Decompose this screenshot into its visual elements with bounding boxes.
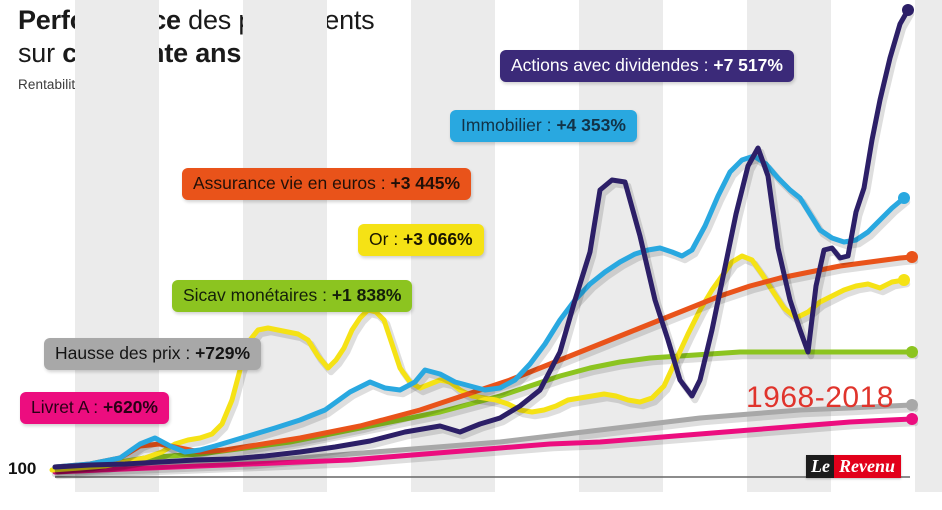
- legend-sep-hausse: :: [180, 343, 195, 363]
- legend-value-hausse: +729%: [195, 343, 250, 363]
- logo-part-le: Le: [806, 455, 834, 478]
- series-endpoint-3[interactable]: [898, 274, 910, 286]
- legend-label-immobilier: Immobilier: [461, 115, 542, 135]
- legend-sep-assurance-vie: :: [376, 173, 391, 193]
- legend-sep-or: :: [388, 229, 403, 249]
- chart-band-5: [915, 0, 942, 492]
- legend-pill-actions[interactable]: Actions avec dividendes : +7 517%: [500, 50, 794, 82]
- le-revenu-logo: Le Revenu: [806, 455, 901, 478]
- legend-label-assurance-vie: Assurance vie en euros: [193, 173, 376, 193]
- series-endpoint-2[interactable]: [906, 251, 918, 263]
- legend-value-immobilier: +4 353%: [556, 115, 626, 135]
- legend-sep-actions: :: [699, 55, 714, 75]
- series-endpoint-5[interactable]: [906, 399, 918, 411]
- logo-part-revenu: Revenu: [834, 455, 901, 478]
- legend-pill-sicav-monetaires[interactable]: Sicav monétaires : +1 838%: [172, 280, 412, 312]
- legend-pill-assurance-vie[interactable]: Assurance vie en euros : +3 445%: [182, 168, 471, 200]
- legend-pill-or[interactable]: Or : +3 066%: [358, 224, 484, 256]
- legend-sep-livret-a: :: [88, 397, 103, 417]
- legend-label-or: Or: [369, 229, 388, 249]
- series-endpoint-0[interactable]: [902, 4, 914, 16]
- legend-label-livret-a: Livret A: [31, 397, 88, 417]
- legend-sep-immobilier: :: [542, 115, 557, 135]
- series-endpoint-1[interactable]: [898, 192, 910, 204]
- legend-label-sicav: Sicav monétaires: [183, 285, 317, 305]
- legend-pill-hausse-des-prix[interactable]: Hausse des prix : +729%: [44, 338, 261, 370]
- legend-label-hausse: Hausse des prix: [55, 343, 180, 363]
- legend-value-sicav: +1 838%: [332, 285, 402, 305]
- legend-value-assurance-vie: +3 445%: [390, 173, 460, 193]
- period-annotation: 1968-2018: [746, 381, 894, 415]
- legend-sep-sicav: :: [317, 285, 332, 305]
- legend-label-actions: Actions avec dividendes: [511, 55, 699, 75]
- series-endpoint-4[interactable]: [906, 346, 918, 358]
- legend-value-or: +3 066%: [403, 229, 473, 249]
- legend-pill-immobilier[interactable]: Immobilier : +4 353%: [450, 110, 637, 142]
- infographic-root: Performance des placements sur cinquante…: [0, 0, 942, 510]
- legend-pill-livret-a[interactable]: Livret A : +620%: [20, 392, 169, 424]
- legend-value-livret-a: +620%: [103, 397, 158, 417]
- baseline-value-label: 100: [8, 459, 36, 479]
- legend-value-actions: +7 517%: [713, 55, 783, 75]
- series-endpoint-6[interactable]: [906, 413, 918, 425]
